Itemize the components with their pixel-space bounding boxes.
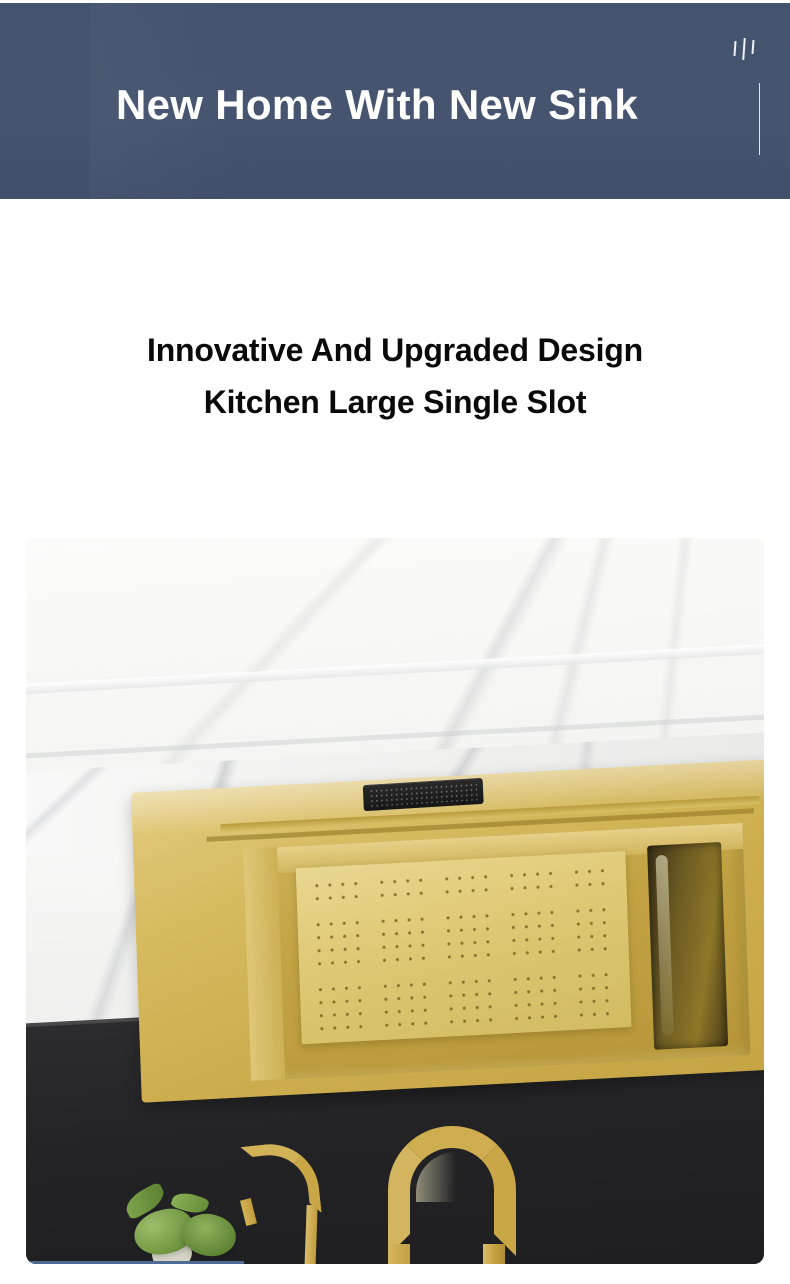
gold-sink-deck [131, 759, 764, 1102]
heading-line-1: Innovative And Upgraded Design [0, 325, 790, 377]
section-heading: Innovative And Upgraded Design Kitchen L… [0, 325, 790, 429]
hero-banner: New Home With New Sink [0, 3, 790, 199]
kitchen-sink-product-photo: ∂ Cut up vegetables Vegetable washing an… [26, 538, 764, 1264]
perforated-drain-basket [296, 851, 632, 1044]
banner-title: New Home With New Sink [0, 81, 790, 129]
tally-ticks-icon [732, 38, 760, 62]
basin-left-wall [243, 847, 285, 1081]
faucet-spout-column [483, 1244, 505, 1264]
drain-channel-highlight [655, 855, 673, 1036]
sink-basin [243, 823, 750, 1081]
filter-faucet-stem [303, 1205, 317, 1264]
callout-cut-up-vegetables: Cut up vegetables [26, 1261, 244, 1264]
slim-filter-faucet [244, 1143, 354, 1264]
faucet-arc [388, 1126, 516, 1256]
heading-line-2: Kitchen Large Single Slot [0, 377, 790, 429]
faucet-riser [388, 1244, 410, 1264]
drain-basket-holes [310, 864, 615, 1032]
gooseneck-pull-down-faucet [378, 1126, 548, 1264]
drain-channel [647, 842, 728, 1050]
